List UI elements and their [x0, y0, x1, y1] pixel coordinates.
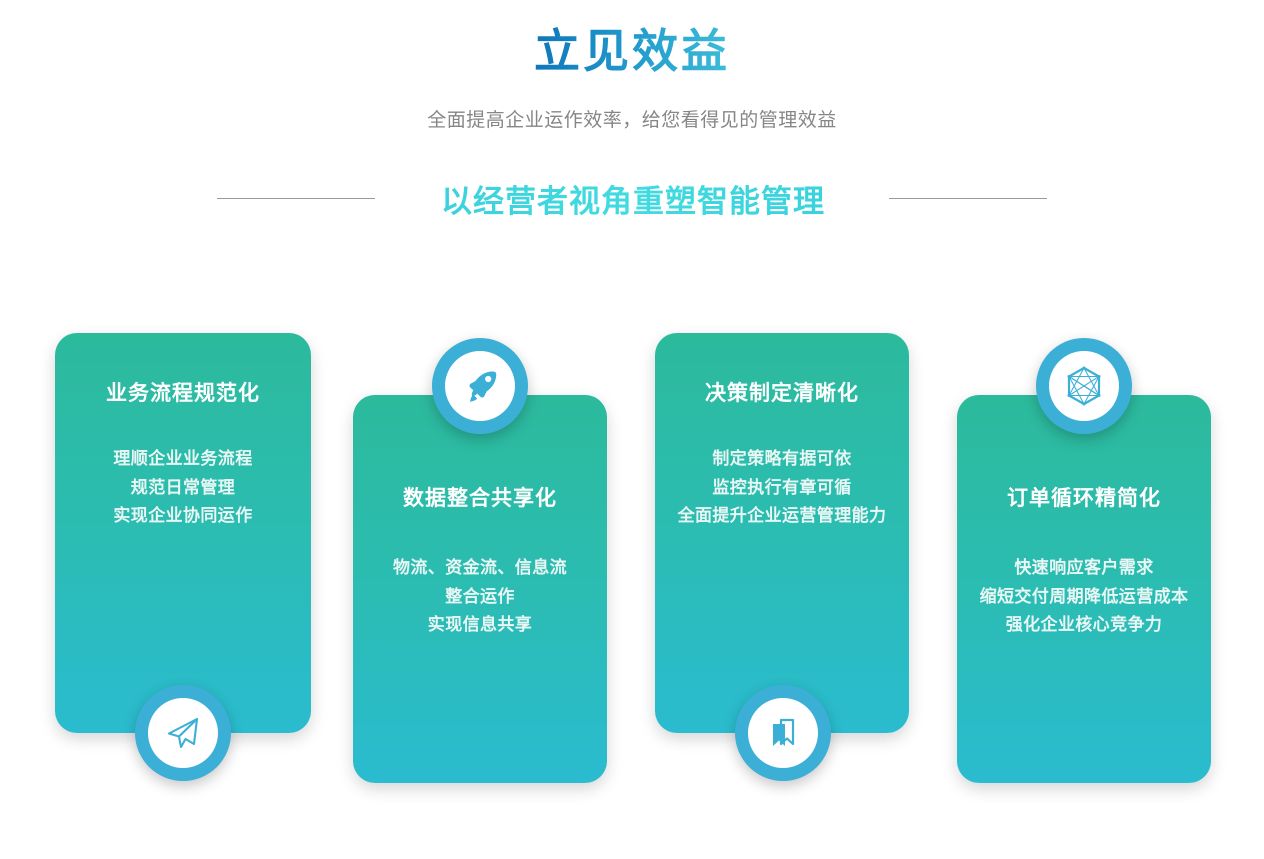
badge-inner-circle [748, 698, 818, 768]
card-body: 快速响应客户需求 缩短交付周期降低运营成本 强化企业核心竞争力 [971, 512, 1197, 639]
section-heading-row: 以经营者视角重塑智能管理 [0, 176, 1264, 221]
card-body: 制定策略有据可依 监控执行有章可循 全面提升企业运营管理能力 [669, 407, 895, 530]
card-title: 业务流程规范化 [69, 333, 297, 407]
feature-card-order-cycle[interactable]: 订单循环精简化 快速响应客户需求 缩短交付周期降低运营成本 强化企业核心竞争力 [957, 395, 1211, 783]
rocket-icon [460, 366, 500, 406]
card-body: 理顺企业业务流程 规范日常管理 实现企业协同运作 [69, 407, 297, 530]
badge-inner-circle [445, 351, 515, 421]
feature-card-business-process[interactable]: 业务流程规范化 理顺企业业务流程 规范日常管理 实现企业协同运作 [55, 333, 311, 733]
card-2-icon-badge[interactable] [432, 338, 528, 434]
page-title: 立见效益 [534, 24, 730, 79]
card-3-icon-badge[interactable] [735, 685, 831, 781]
paper-plane-icon [164, 714, 202, 752]
divider-line-right [889, 198, 1047, 199]
card-body: 物流、资金流、信息流 整合运作 实现信息共享 [367, 512, 593, 639]
section-heading: 以经营者视角重塑智能管理 [441, 176, 825, 221]
badge-inner-circle [1049, 351, 1119, 421]
feature-card-data-integration[interactable]: 数据整合共享化 物流、资金流、信息流 整合运作 实现信息共享 [353, 395, 607, 783]
bookmark-icon [764, 714, 802, 752]
badge-inner-circle [148, 698, 218, 768]
hexagon-network-icon [1063, 365, 1105, 407]
card-4-icon-badge[interactable] [1036, 338, 1132, 434]
feature-card-decision-making[interactable]: 决策制定清晰化 制定策略有据可依 监控执行有章可循 全面提升企业运营管理能力 [655, 333, 909, 733]
divider-line-left [217, 198, 375, 199]
page-header: 立见效益 全面提高企业运作效率，给您看得见的管理效益 以经营者视角重塑智能管理 [0, 0, 1264, 221]
card-title: 决策制定清晰化 [669, 333, 895, 407]
feature-cards-region: 业务流程规范化 理顺企业业务流程 规范日常管理 实现企业协同运作 数据整合共享化… [0, 300, 1264, 820]
page-subtitle: 全面提高企业运作效率，给您看得见的管理效益 [0, 105, 1264, 132]
card-1-icon-badge[interactable] [135, 685, 231, 781]
